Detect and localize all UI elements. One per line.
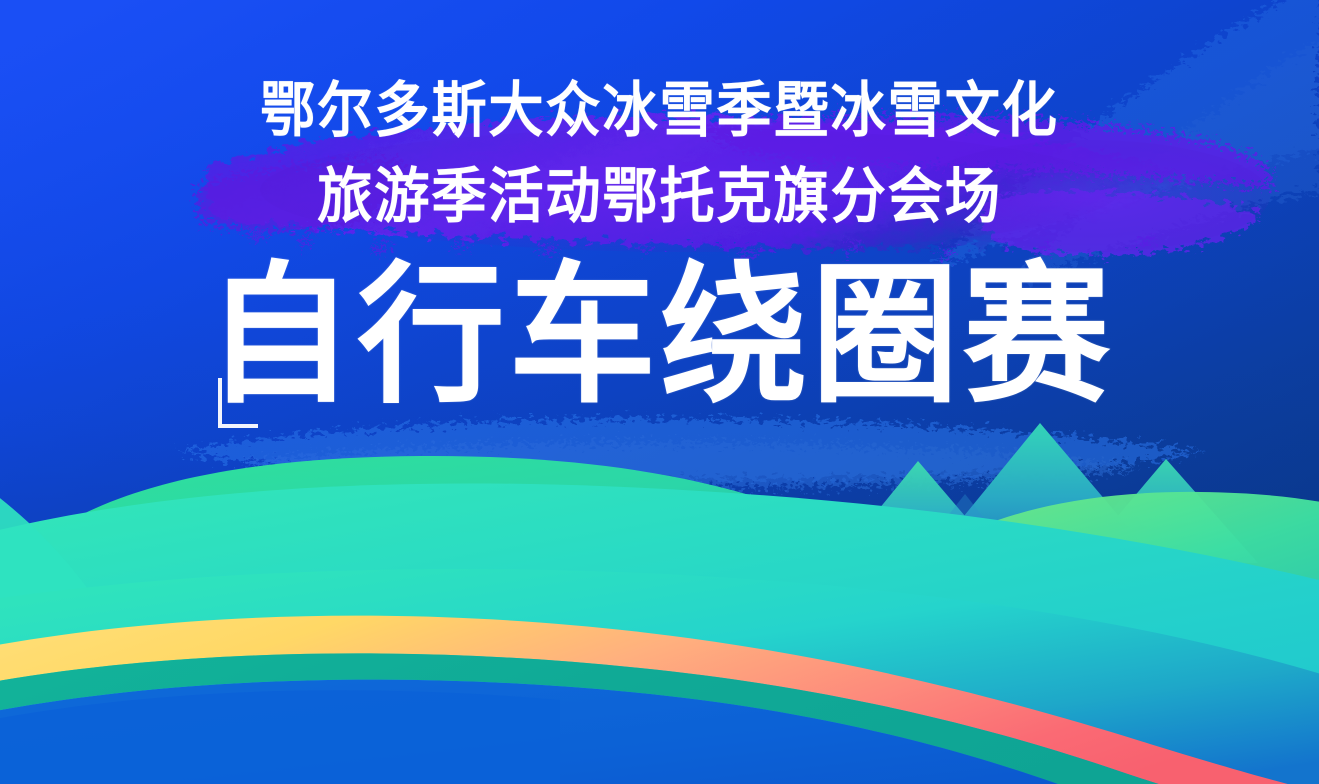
brush-glow-right [910,140,1270,252]
poster-artwork [0,0,1319,784]
poster-canvas: 鄂尔多斯大众冰雪季暨冰雪文化 旅游季活动鄂托克旗分会场 自行车绕圈赛 [0,0,1319,784]
